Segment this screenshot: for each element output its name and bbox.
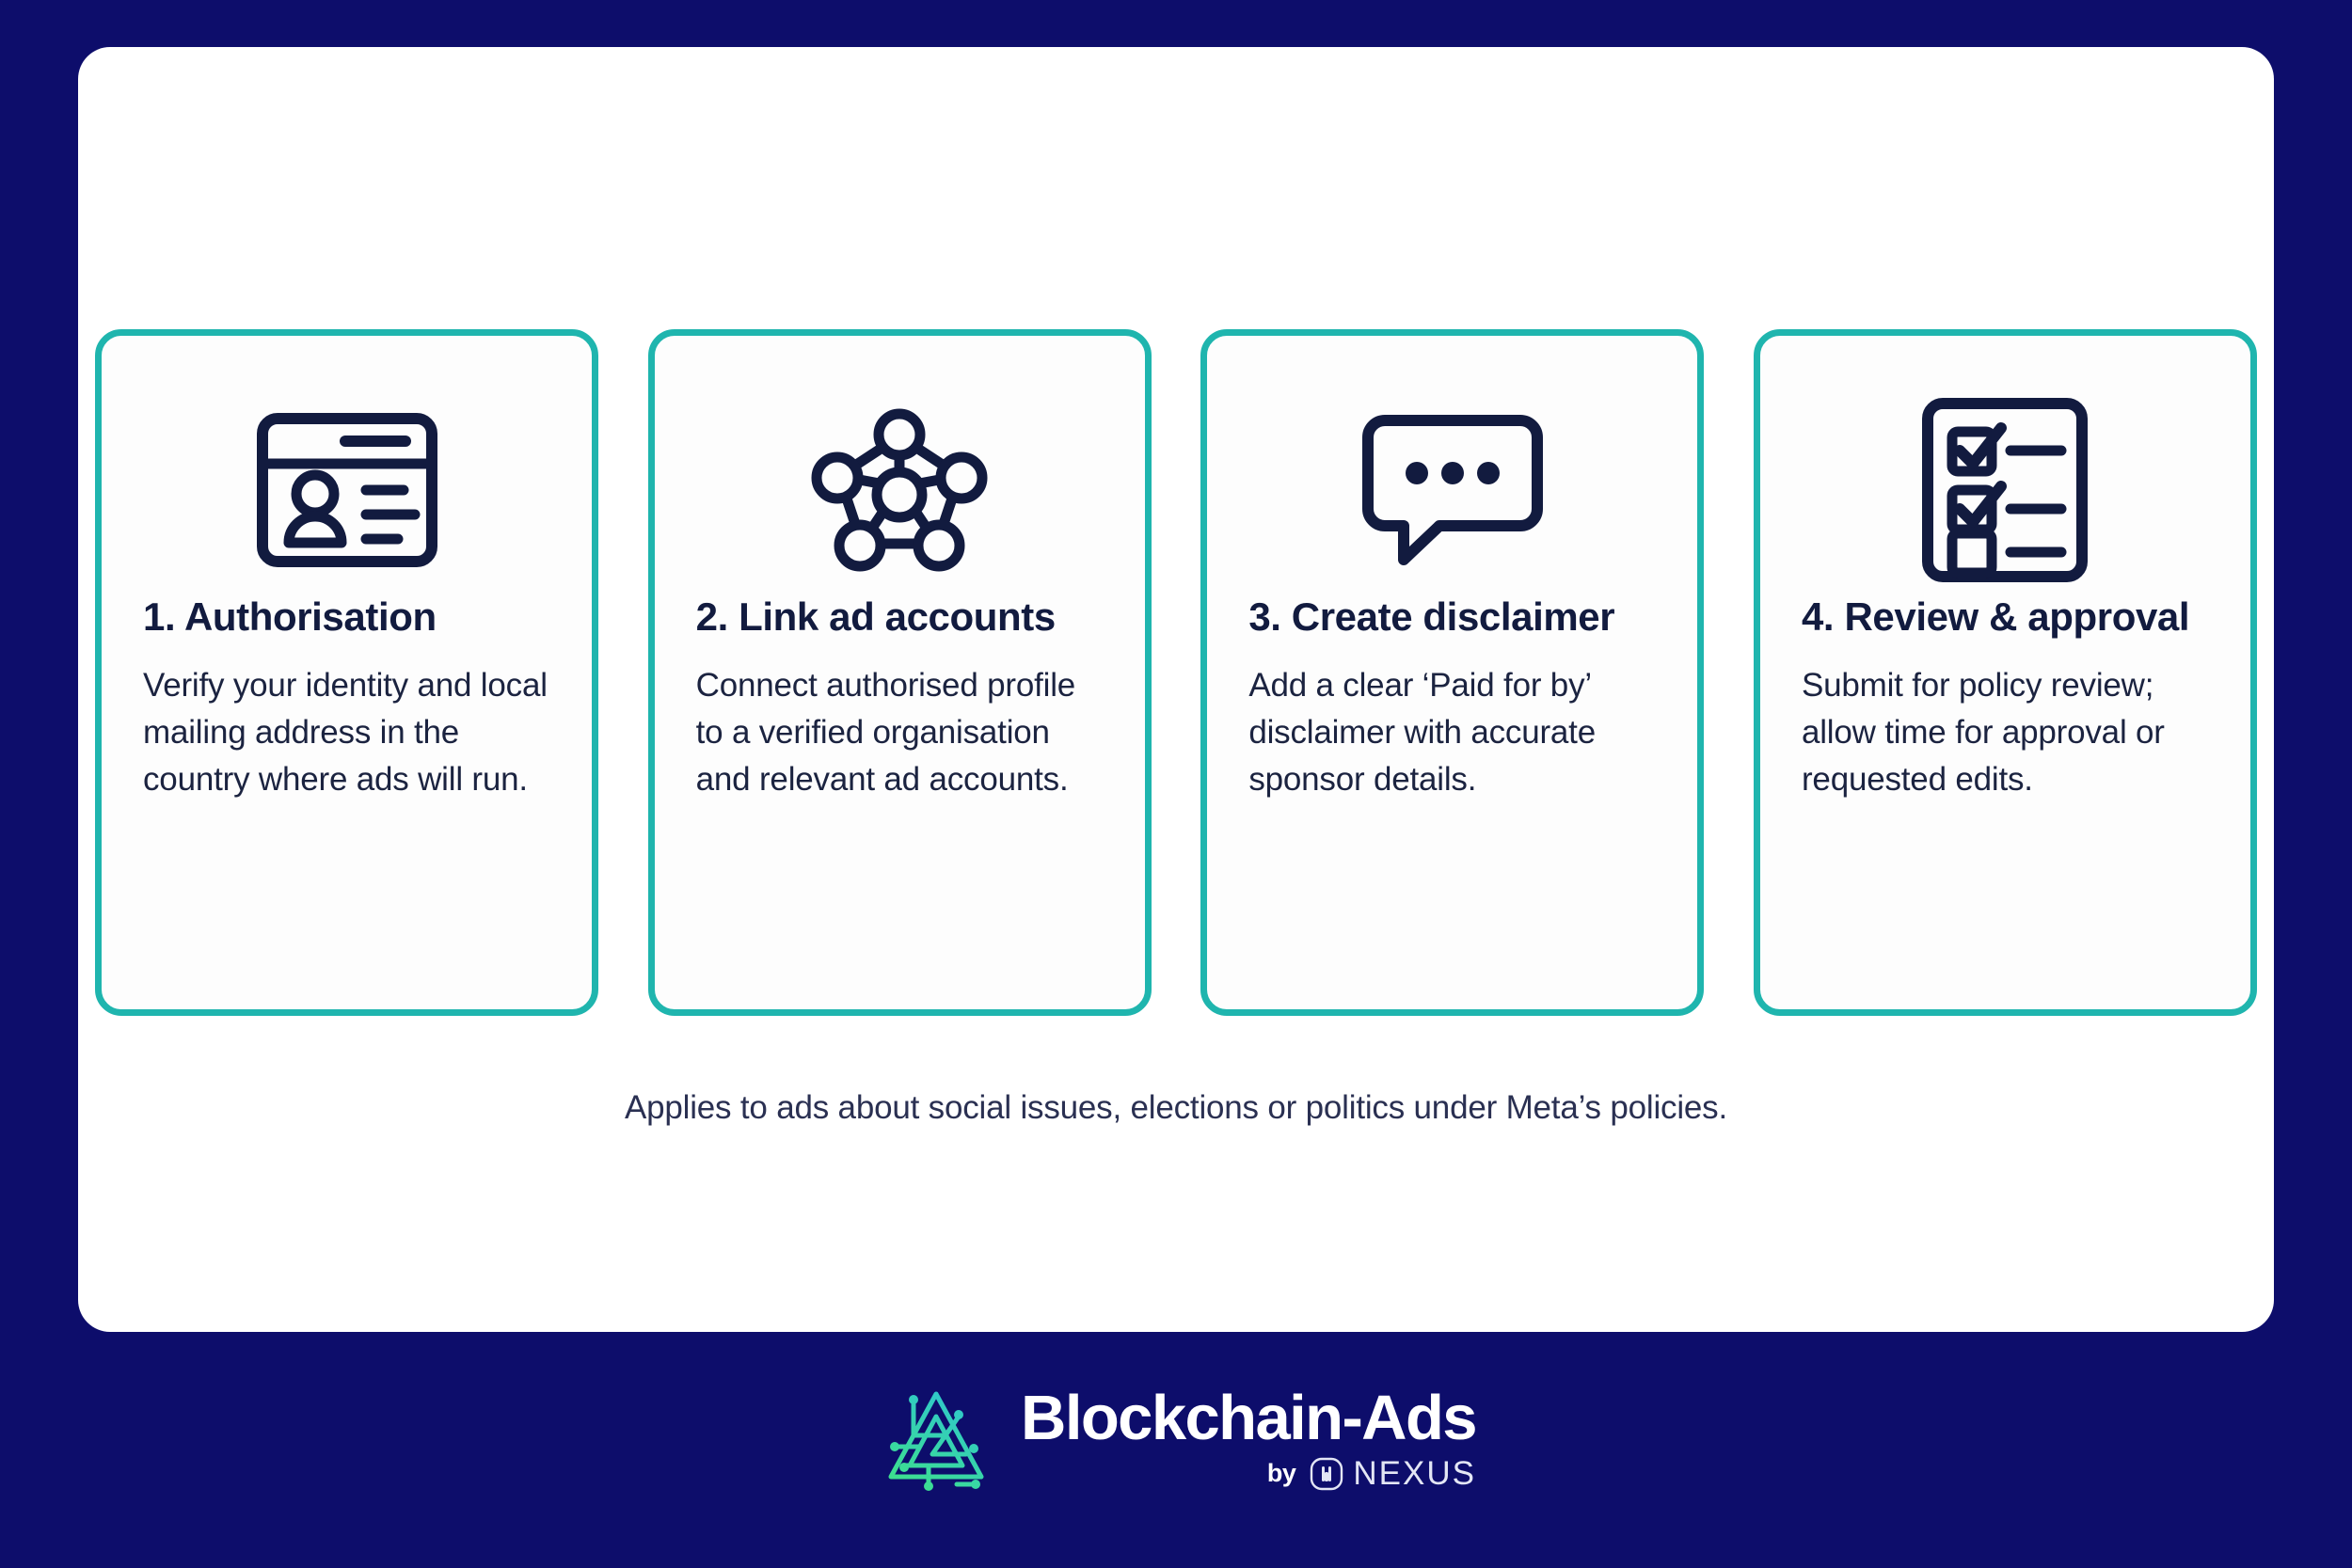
blockchain-ads-wordmark: Blockchain-Ads xyxy=(1021,1386,1476,1449)
byline-group: by NEXUS xyxy=(1267,1455,1476,1493)
nexus-lockup: NEXUS xyxy=(1309,1455,1476,1493)
speech-bubble-icon xyxy=(1248,388,1656,591)
footnote-caption: Applies to ads about social issues, elec… xyxy=(78,1089,2274,1127)
step-card-body: Submit for policy review; allow time for… xyxy=(1802,662,2209,803)
step-card-body: Add a clear ‘Paid for by’ disclaimer wit… xyxy=(1248,662,1656,803)
by-label: by xyxy=(1267,1459,1296,1488)
step-card-create-disclaimer[interactable]: 3. Create disclaimer Add a clear ‘Paid f… xyxy=(1200,329,1704,1016)
step-card-body: Verify your identity and local mailing a… xyxy=(143,662,550,803)
step-card-title: 3. Create disclaimer xyxy=(1248,594,1614,640)
steps-card-row: 1. Authorisation Verify your identity an… xyxy=(95,329,2257,1016)
step-card-body: Connect authorised profile to a verified… xyxy=(696,662,1104,803)
step-card-review-approval[interactable]: 4. Review & approval Submit for policy r… xyxy=(1754,329,2257,1016)
step-card-authorisation[interactable]: 1. Authorisation Verify your identity an… xyxy=(95,329,598,1016)
step-card-title: 4. Review & approval xyxy=(1802,594,2189,640)
brand-wordmark-group: Blockchain-Ads by NEXUS xyxy=(1021,1386,1476,1493)
network-nodes-icon xyxy=(696,388,1104,591)
nexus-wordmark: NEXUS xyxy=(1353,1455,1476,1493)
id-card-icon xyxy=(143,388,550,591)
content-panel: 1. Authorisation Verify your identity an… xyxy=(78,47,2274,1332)
step-card-link-ad-accounts[interactable]: 2. Link ad accounts Connect authorised p… xyxy=(648,329,1152,1016)
checklist-icon xyxy=(1802,388,2209,591)
blockchain-ads-logo-mark xyxy=(876,1379,996,1499)
nexus-mark-icon xyxy=(1309,1456,1344,1492)
step-card-title: 1. Authorisation xyxy=(143,594,437,640)
brand-footer: Blockchain-Ads by NEXUS xyxy=(0,1354,2352,1524)
step-card-title: 2. Link ad accounts xyxy=(696,594,1056,640)
